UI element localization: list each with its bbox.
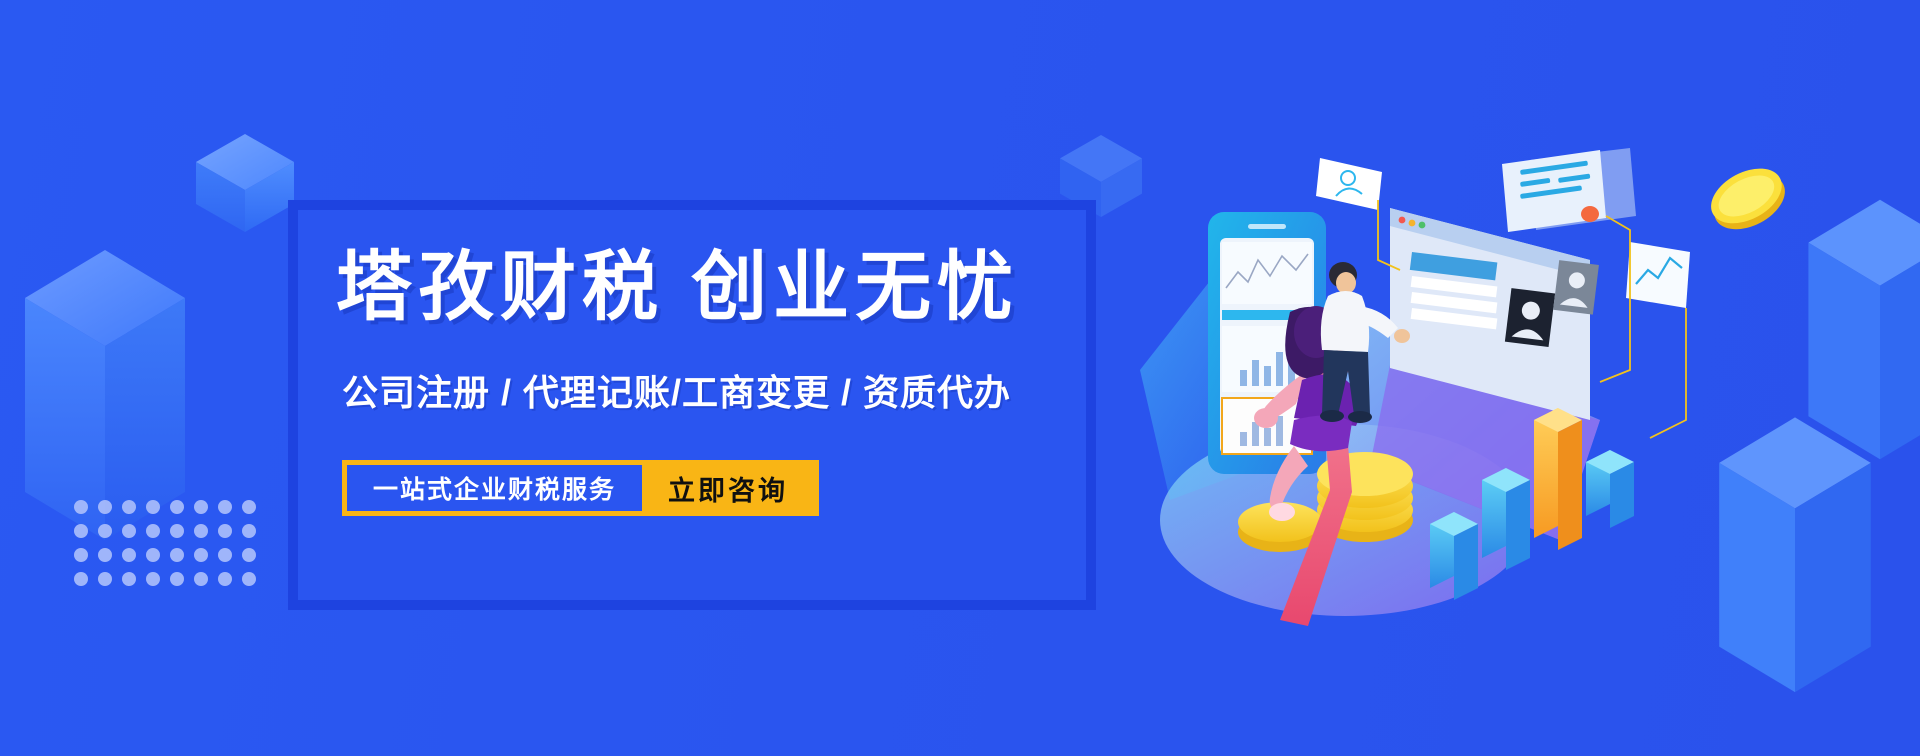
service-list: 公司注册 / 代理记账/工商变更 / 资质代办 [342,375,1011,411]
dot [218,524,232,538]
line-chart-card [1626,242,1690,308]
pillar-icon [1705,400,1885,700]
dot [194,548,208,562]
dot [170,524,184,538]
dot [98,548,112,562]
dot [74,548,88,562]
promo-banner: 塔孜财税 创业无忧 公司注册 / 代理记账/工商变更 / 资质代办 一站式企业财… [0,0,1920,756]
dot [194,500,208,514]
coin-icon [1700,150,1795,245]
pillar-icon [10,240,200,540]
cube-icon [190,128,300,238]
dot [170,500,184,514]
dot [74,524,88,538]
illustration-business-finance [1130,120,1690,640]
dot [194,572,208,586]
dot [242,524,256,538]
dot [146,572,160,586]
dot [74,572,88,586]
page-title: 塔孜财税 创业无忧 [336,250,1019,326]
pillar-icon [1795,180,1920,470]
dot [146,524,160,538]
dot [122,500,136,514]
dot [242,548,256,562]
consult-now-button[interactable]: 立即咨询 [642,465,814,511]
dot [218,500,232,514]
dot [242,572,256,586]
dot [146,548,160,562]
cta-bar: 一站式企业财税服务 立即咨询 [342,460,819,516]
dot [194,524,208,538]
dot [218,548,232,562]
dot [98,500,112,514]
text-panel: 塔孜财税 创业无忧 公司注册 / 代理记账/工商变更 / 资质代办 一站式企业财… [298,210,1086,600]
dot [122,524,136,538]
dot [122,572,136,586]
profile-card [1316,158,1382,210]
dot [74,500,88,514]
dot [242,500,256,514]
text-panel-frame: 塔孜财税 创业无忧 公司注册 / 代理记账/工商变更 / 资质代办 一站式企业财… [288,200,1096,610]
dot [170,548,184,562]
credit-card [1502,148,1636,232]
dot [170,572,184,586]
dot-grid [74,500,266,596]
dot [98,524,112,538]
dot [98,572,112,586]
cta-tagline: 一站式企业财税服务 [347,465,642,511]
dot [218,572,232,586]
dot [122,548,136,562]
dot [146,500,160,514]
